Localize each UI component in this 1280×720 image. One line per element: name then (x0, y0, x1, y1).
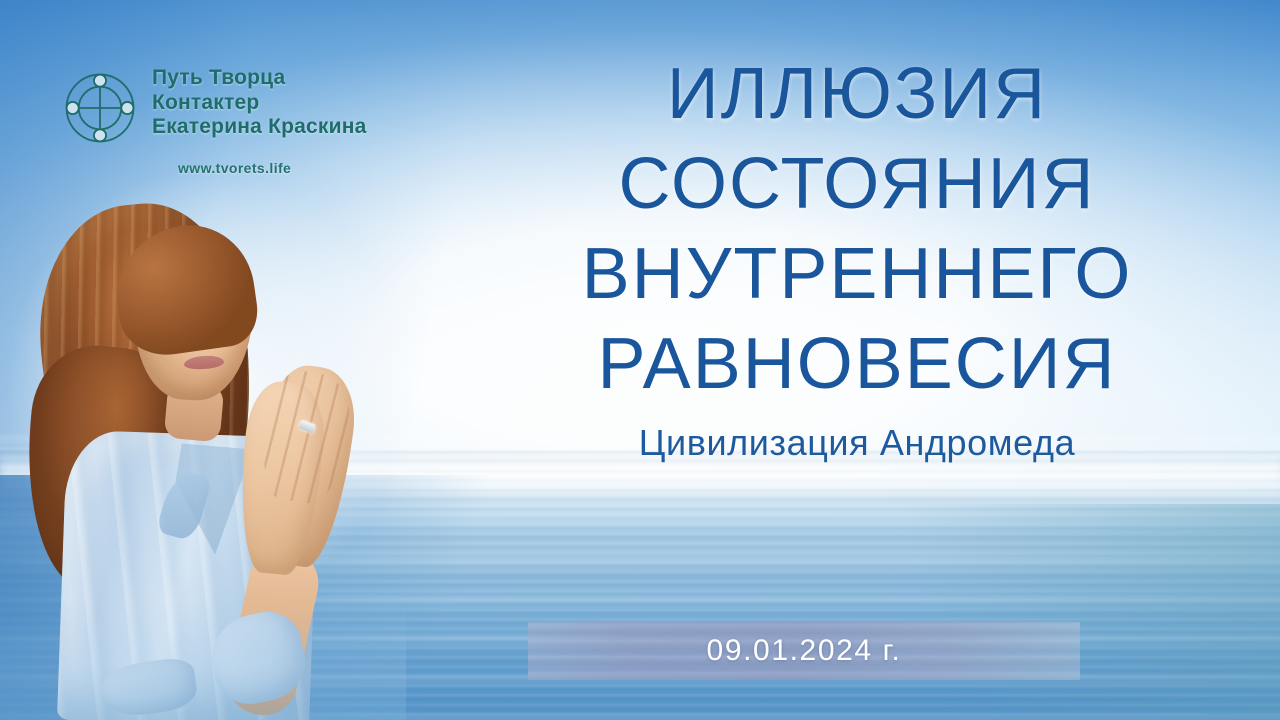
brand-line-1: Путь Творца (152, 66, 366, 91)
date-text: 09.01.2024 г. (707, 634, 902, 668)
brand-line-2: Контактер (152, 91, 366, 116)
date-banner: 09.01.2024 г. (528, 622, 1080, 680)
brand-text: Путь Творца Контактер Екатерина Краскина (152, 66, 366, 140)
title-line-2: СОСТОЯНИЯ (470, 148, 1244, 220)
woman-namaste-portrait (6, 196, 376, 720)
title-block: ИЛЛЮЗИЯ СОСТОЯНИЯ ВНУТРЕННЕГО РАВНОВЕСИЯ… (470, 58, 1244, 464)
brand-website-url[interactable]: www.tvorets.life (178, 160, 291, 176)
brand-logo[interactable]: Путь Творца Контактер Екатерина Краскина (62, 66, 366, 146)
title-line-4: РАВНОВЕСИЯ (470, 328, 1244, 400)
circle-cross-emblem-icon (62, 70, 138, 146)
portrait-bottom-fade (0, 600, 406, 720)
title-card: Путь Творца Контактер Екатерина Краскина… (0, 0, 1280, 720)
title-line-1: ИЛЛЮЗИЯ (470, 58, 1244, 130)
water-tint-right (845, 504, 1280, 720)
brand-line-3: Екатерина Краскина (152, 115, 366, 140)
subtitle: Цивилизация Андромеда (470, 422, 1244, 464)
title-line-3: ВНУТРЕННЕГО (470, 238, 1244, 310)
